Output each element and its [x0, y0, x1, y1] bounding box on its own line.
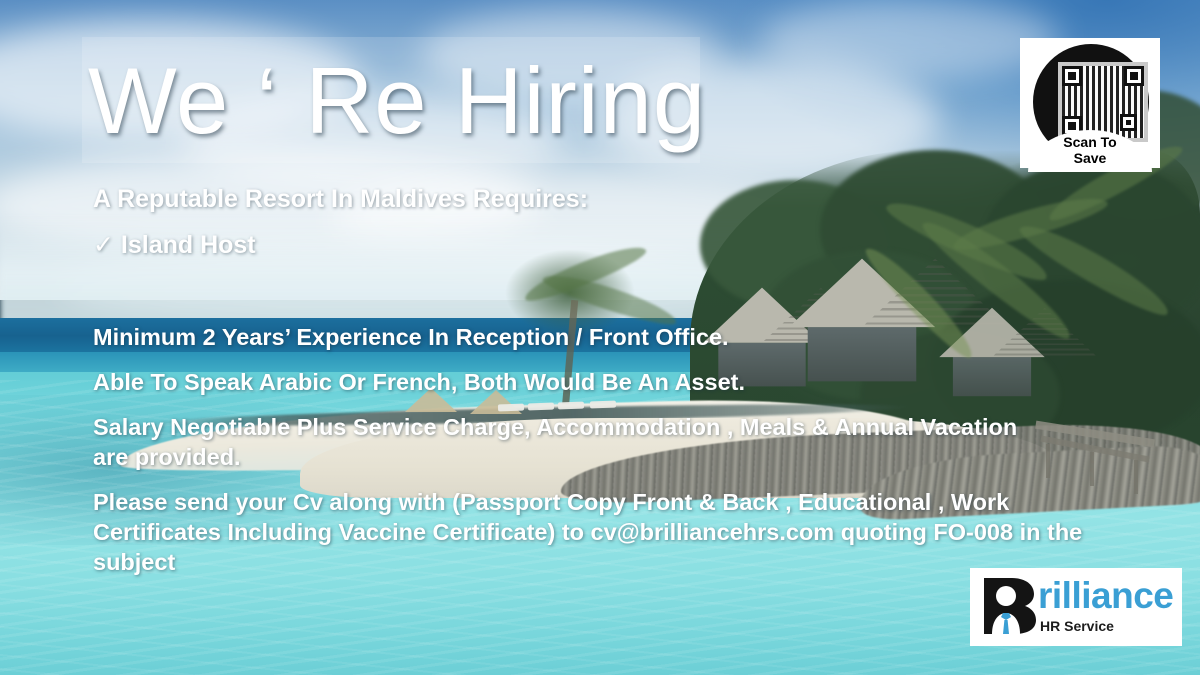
beach-lounger — [558, 402, 584, 410]
resort-villa — [939, 308, 1044, 396]
intro-line: A Reputable Resort In Maldives Requires: — [93, 185, 588, 214]
beach-lounger — [528, 403, 554, 411]
beach-lounger — [498, 404, 524, 412]
requirement-salary-benefits: Salary Negotiable Plus Service Charge, A… — [93, 412, 1023, 472]
villa-wall — [808, 327, 917, 381]
jetty-post — [1090, 452, 1094, 486]
resort-villa — [789, 259, 935, 382]
logo-wordmark: rilliance — [1038, 574, 1173, 618]
logo-b-person-icon — [982, 576, 1044, 636]
position-line: ✓ Island Host — [93, 230, 256, 260]
qr-alignment-icon — [1120, 114, 1137, 131]
page-title: We ‘ Re Hiring — [88, 42, 728, 160]
qr-caption-line2: Save — [1028, 150, 1152, 166]
qr-finder-icon — [1062, 66, 1082, 86]
cloud — [760, 0, 1060, 80]
qr-caption: Scan To Save — [1028, 134, 1152, 166]
jetty-post — [1046, 444, 1050, 478]
job-poster: We ‘ Re Hiring A Reputable Resort In Mal… — [0, 0, 1200, 675]
qr-badge[interactable]: Scan To Save — [1020, 38, 1160, 168]
logo-tagline: HR Service — [1040, 618, 1114, 634]
jetty-post — [1134, 460, 1138, 494]
requirement-languages: Able To Speak Arabic Or French, Both Wou… — [93, 367, 745, 397]
application-instructions: Please send your Cv along with (Passport… — [93, 487, 1123, 577]
villa-wall — [953, 357, 1031, 396]
requirement-experience: Minimum 2 Years’ Experience In Reception… — [93, 322, 729, 352]
qr-finder-icon — [1124, 66, 1144, 86]
qr-caption-line1: Scan To — [1028, 134, 1152, 150]
brilliance-logo[interactable]: rilliance HR Service — [970, 568, 1182, 646]
beach-lounger — [590, 401, 616, 409]
